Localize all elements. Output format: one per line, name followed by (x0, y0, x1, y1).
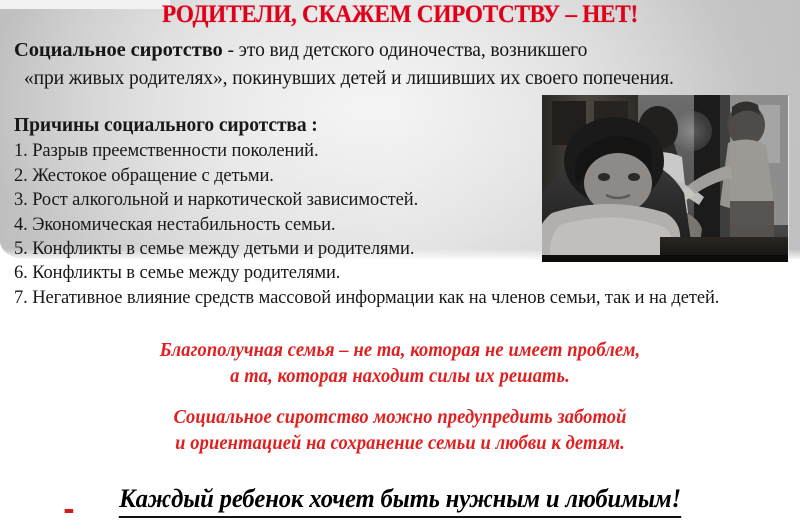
bottom-slogan: Каждый ребенок хочет быть нужным и любим… (20, 483, 780, 518)
bottom-slogan-text: Каждый ребенок хочет быть нужным и любим… (119, 483, 681, 518)
quote1-line1: Благополучная семья – не та, которая не … (20, 338, 780, 364)
quote-block-family: Благополучная семья – не та, которая не … (20, 338, 780, 390)
definition-term: Социальное сиротство (14, 39, 223, 61)
quote2-line2: и ориентацией на сохранение семьи и любв… (20, 431, 780, 457)
definition-paragraph: Социальное сиротство - это вид детского … (14, 36, 789, 93)
quote2-line1: Социальное сиротство можно предупредить … (20, 405, 780, 431)
poster-canvas: РОДИТЕЛИ, СКАЖЕМ СИРОТСТВУ – НЕТ! Социал… (0, 0, 800, 530)
list-item: 6. Конфликты в семье между родителями. (14, 261, 794, 285)
family-conflict-photo-graphic (542, 95, 788, 262)
definition-line2: «при живых родителях», покинувших детей … (14, 65, 789, 93)
page-title: РОДИТЕЛИ, СКАЖЕМ СИРОТСТВУ – НЕТ! (28, 0, 772, 30)
quote1-line2: а та, которая находит силы их решать. (20, 364, 780, 390)
red-underline-accent (65, 509, 74, 513)
family-conflict-photo (542, 95, 788, 262)
list-item: 7. Негативное влияние средств массовой и… (14, 286, 794, 310)
quote-block-prevention: Социальное сиротство можно предупредить … (20, 405, 780, 457)
definition-line1-rest: - это вид детского одиночества, возникше… (223, 40, 588, 61)
